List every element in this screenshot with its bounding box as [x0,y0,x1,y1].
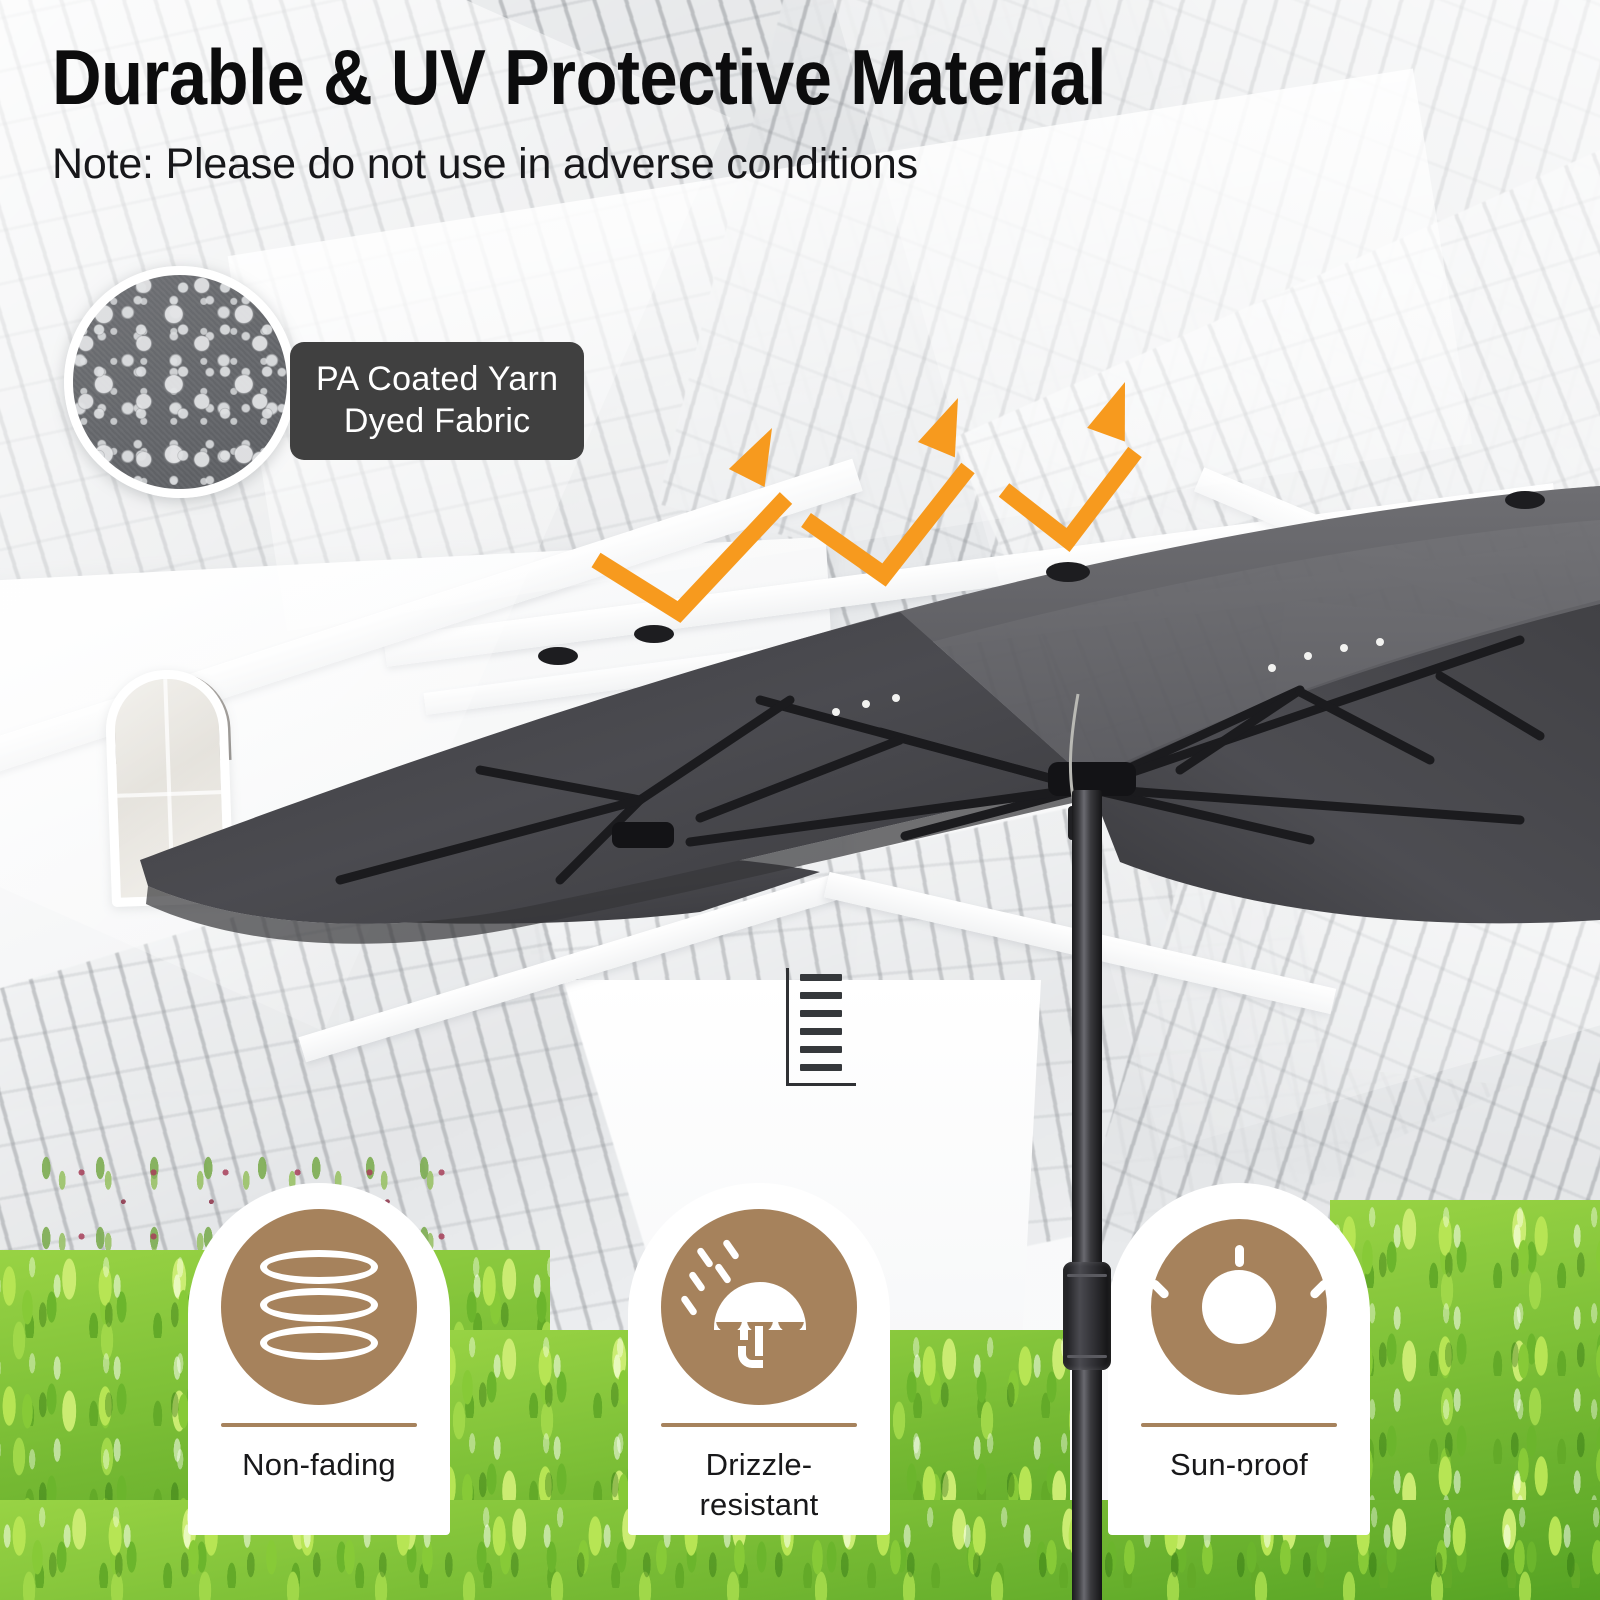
stacked-ellipses-icon [260,1248,378,1366]
umbrella-rain-icon [700,1248,818,1366]
feature-label: Non-fading [199,1445,439,1485]
feature-divider [661,1423,857,1427]
feature-divider [1141,1423,1337,1427]
feature-card-non-fading: Non-fading [188,1183,450,1535]
sun-icon [1151,1219,1327,1395]
umbrella-pole-foreground [1072,1160,1102,1600]
feature-disc [1141,1209,1337,1405]
feature-card-drizzle-resistant: Drizzle- resistant [628,1183,890,1535]
feature-disc [221,1209,417,1405]
feature-disc [661,1209,857,1405]
product-feature-image: PA Coated Yarn Dyed Fabric Durable & UV … [0,0,1600,1600]
feature-label: Drizzle- resistant [639,1445,879,1524]
feature-badges: Non-fading Drizzle- resistant [0,0,1600,1600]
umbrella-crank-housing-foreground [1063,1262,1111,1370]
feature-divider [221,1423,417,1427]
feature-card-sun-proof: Sun-proof [1108,1183,1370,1535]
